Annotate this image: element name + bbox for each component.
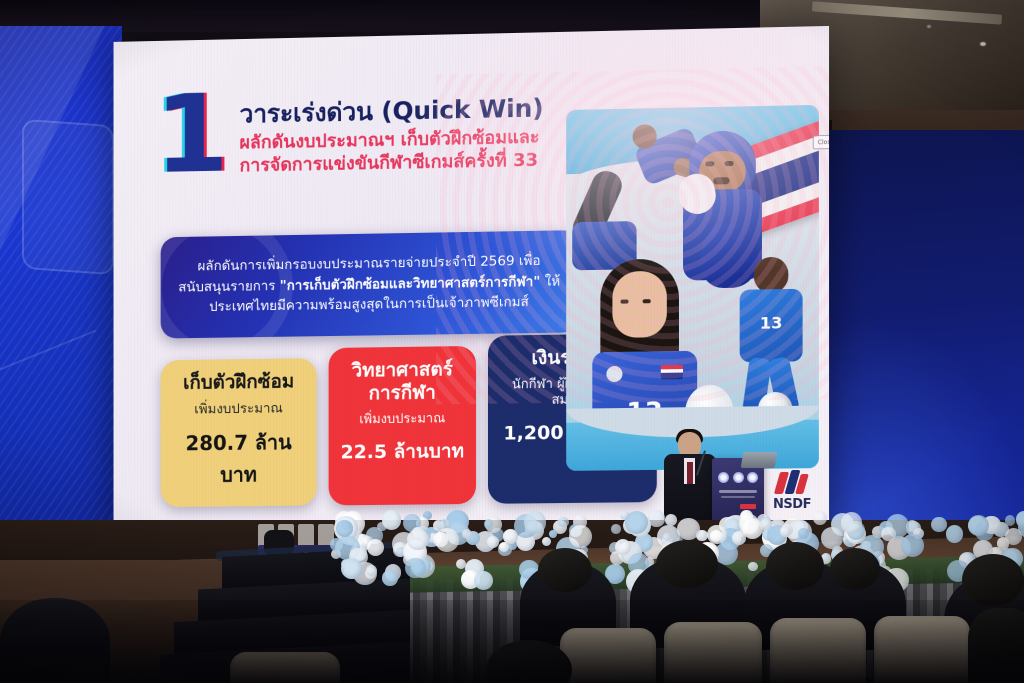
stat-card-training-camp: เก็บตัวฝึกซ้อม เพิ่มงบประมาณ 280.7 ล้านบ…	[161, 358, 317, 507]
led-pattern-shape	[22, 119, 114, 275]
flower-blossom	[748, 562, 757, 571]
laptop-icon	[741, 452, 778, 468]
highlight-callout-box: ผลักดันการเพิ่มกรอบงบประมาณรายจ่ายประจำป…	[161, 230, 579, 338]
flower-blossom	[366, 565, 377, 576]
callout-line-2-prefix: สนับสนุนรายการ	[178, 278, 279, 296]
flower-blossom	[707, 525, 726, 544]
callout-line-1: ผลักดันการเพิ่มกรอบงบประมาณรายจ่ายประจำป…	[198, 252, 541, 274]
chair	[230, 652, 340, 683]
chair	[770, 618, 866, 683]
card-value: 22.5 ล้านบาท	[337, 436, 468, 467]
flower-blossom	[474, 571, 493, 590]
flower-blossom	[382, 510, 401, 529]
flower-blossom	[1016, 511, 1024, 528]
podium-accent	[740, 504, 756, 509]
flower-blossom	[569, 525, 592, 548]
flower-blossom	[841, 512, 863, 534]
chair	[664, 622, 762, 683]
flower-blossom	[665, 514, 677, 526]
ceiling-spotlight	[980, 42, 986, 46]
flower-blossom	[484, 519, 493, 528]
card-subtitle: เพิ่มงบประมาณ	[337, 411, 468, 429]
flower-blossom	[798, 528, 809, 539]
flower-blossom	[611, 524, 621, 534]
flower-blossom	[901, 534, 924, 557]
audience-head-foreground	[968, 608, 1024, 683]
athlete-photo-collage: 13 13	[566, 105, 819, 471]
flower-blossom	[742, 518, 763, 539]
audience-person	[0, 598, 110, 683]
flower-blossom	[542, 537, 552, 547]
led-wall-right	[828, 130, 1024, 560]
stat-card-sports-science: วิทยาศาสตร์ การกีฬา เพิ่มงบประมาณ 22.5 ล…	[329, 346, 476, 506]
close-button[interactable]: Close	[813, 135, 829, 150]
flower-blossom	[405, 558, 425, 578]
flower-blossom	[1005, 528, 1022, 545]
chair	[560, 628, 656, 683]
ceiling-sprinkler	[927, 25, 931, 28]
flower-blossom	[677, 518, 699, 540]
football-jersey-number: 13	[740, 313, 803, 333]
flower-blossom	[487, 536, 499, 548]
audience-head	[766, 542, 824, 590]
speaker-tie	[687, 462, 693, 484]
card-title: เก็บตัวฝึกซ้อม	[169, 370, 309, 395]
flower-blossom	[881, 527, 896, 542]
flower-blossom	[663, 533, 671, 541]
led-wall-left	[0, 26, 122, 558]
flower-blossom	[456, 559, 466, 569]
flower-blossom	[524, 511, 546, 533]
flower-blossom	[407, 529, 429, 551]
flower-blossom	[382, 570, 397, 585]
flower-blossom	[813, 511, 827, 525]
callout-line-2-bold: "การเก็บตัวฝึกซ้อมและวิทยาศาสตร์การกีฬา"	[280, 273, 541, 293]
flower-blossom	[336, 520, 352, 536]
podium-banner-subtext	[721, 496, 755, 498]
flower-blossom	[558, 517, 569, 528]
audience-head	[830, 548, 880, 590]
chair	[874, 616, 970, 683]
flower-blossom	[1005, 515, 1015, 525]
flower-blossom	[946, 525, 963, 542]
podium-banner-text	[719, 490, 757, 493]
nsdf-mark-icon	[775, 470, 809, 496]
flower-blossom	[549, 530, 557, 538]
flower-blossom	[435, 528, 459, 552]
card-title-line2: การกีฬา	[337, 381, 468, 405]
card-title-line1: วิทยาศาสตร์	[337, 358, 468, 383]
card-value: 280.7 ล้านบาท	[169, 426, 309, 491]
audience-head	[656, 540, 718, 588]
audience-head	[962, 554, 1024, 606]
audience-head	[538, 548, 592, 592]
athlete-arm	[572, 169, 642, 267]
flower-blossom	[367, 539, 384, 556]
podium-logos	[718, 472, 758, 483]
flower-blossom	[625, 511, 648, 534]
slide-number: 1	[155, 89, 227, 182]
flower-blossom	[931, 517, 947, 533]
callout-text: ผลักดันการเพิ่มกรอบงบประมาณรายจ่ายประจำป…	[161, 250, 579, 319]
conference-scene: 1 วาระเร่งด่วน (Quick Win) ผลักดันงบประม…	[0, 0, 1024, 683]
flower-blossom	[821, 527, 842, 548]
card-subtitle: เพิ่มงบประมาณ	[169, 400, 309, 419]
